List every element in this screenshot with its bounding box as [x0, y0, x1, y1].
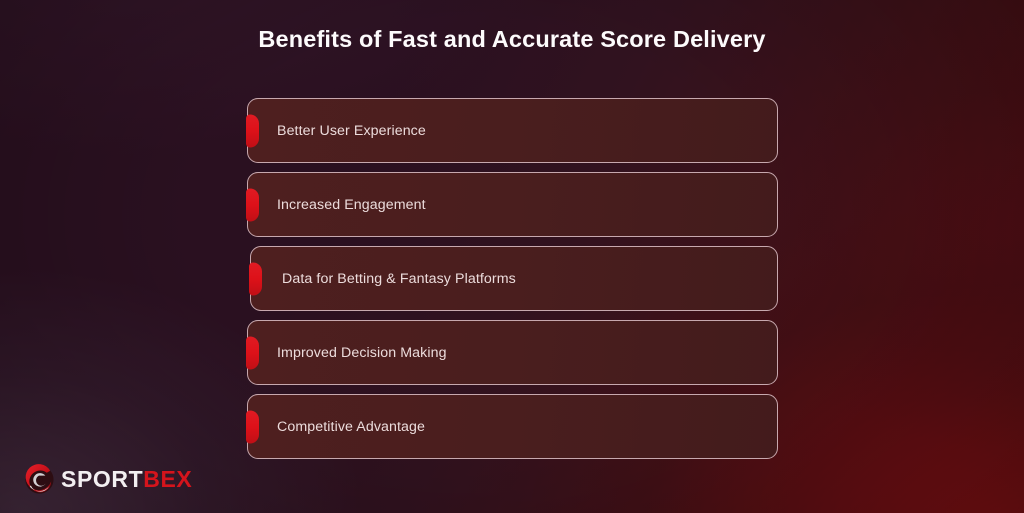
benefit-label-4: Improved Decision Making — [277, 345, 447, 361]
benefit-card-4[interactable]: Improved Decision Making — [247, 320, 778, 385]
benefit-card-5[interactable]: Competitive Advantage — [247, 394, 778, 459]
benefit-label-3: Data for Betting & Fantasy Platforms — [282, 271, 516, 287]
brand-wordmark: SPORTBEX — [61, 468, 192, 491]
brand-logo[interactable]: SPORTBEX — [24, 464, 192, 495]
red-pill-marker-icon — [249, 262, 262, 295]
red-pill-marker-icon — [246, 188, 259, 221]
benefit-card-1[interactable]: Better User Experience — [247, 98, 778, 163]
page-title: Benefits of Fast and Accurate Score Deli… — [0, 26, 1024, 53]
benefit-label-5: Competitive Advantage — [277, 419, 425, 435]
benefit-card-2[interactable]: Increased Engagement — [247, 172, 778, 237]
slide-canvas: Benefits of Fast and Accurate Score Deli… — [0, 0, 1024, 513]
benefit-label-2: Increased Engagement — [277, 197, 426, 213]
red-pill-marker-icon — [246, 336, 259, 369]
brand-name-accent: BEX — [143, 468, 192, 491]
brand-name-primary: SPORT — [61, 468, 143, 491]
red-pill-marker-icon — [246, 410, 259, 443]
sportbex-swoosh-icon — [24, 464, 55, 495]
red-pill-marker-icon — [246, 114, 259, 147]
benefit-card-3[interactable]: Data for Betting & Fantasy Platforms — [250, 246, 778, 311]
benefit-label-1: Better User Experience — [277, 123, 426, 139]
slide-content: Benefits of Fast and Accurate Score Deli… — [0, 0, 1024, 513]
benefits-list: Better User Experience Increased Engagem… — [247, 98, 778, 468]
